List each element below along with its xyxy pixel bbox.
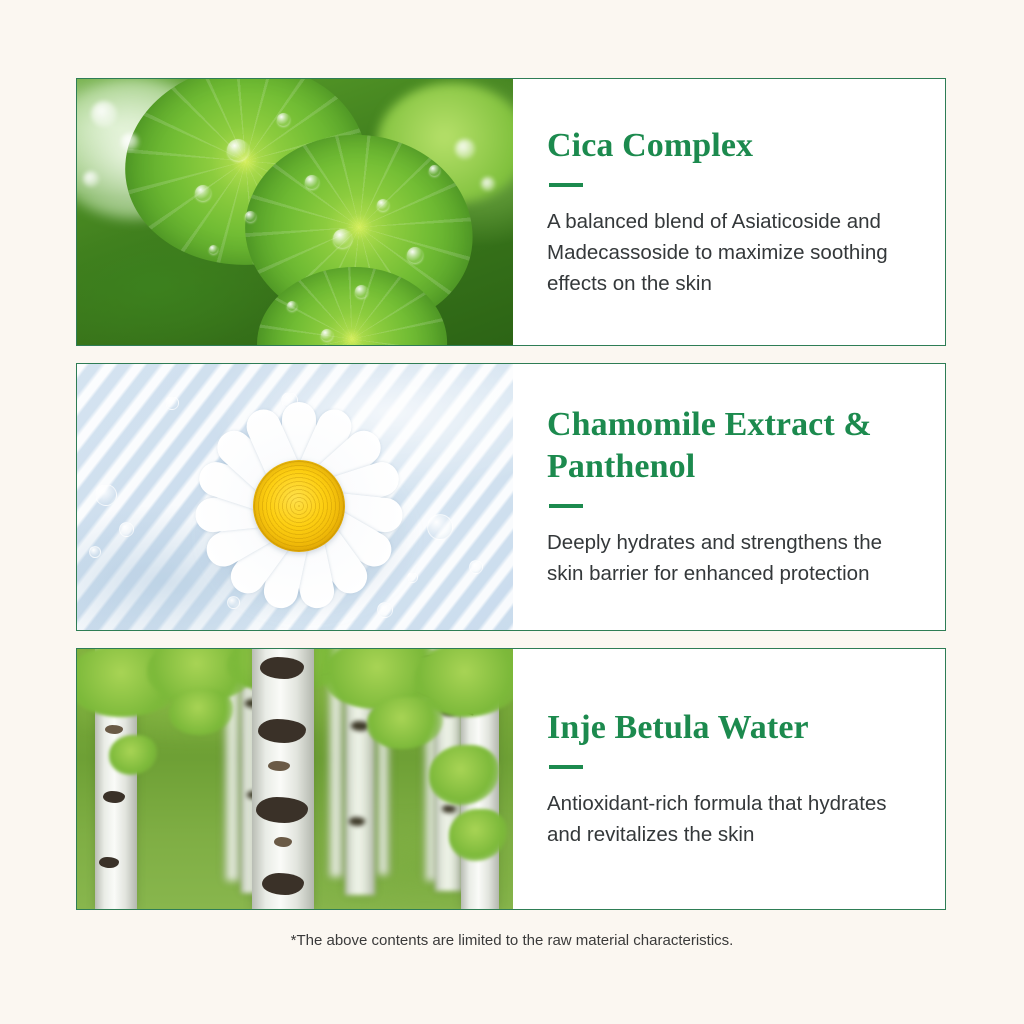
water-droplet: [407, 247, 423, 263]
bark-mark: [442, 805, 456, 813]
bark-mark: [99, 857, 119, 868]
title-accent-rule: [549, 765, 583, 769]
water-droplet: [277, 113, 290, 126]
card-text-panel: Cica Complex A balanced blend of Asiatic…: [513, 79, 945, 345]
disclaimer-footnote: *The above contents are limited to the r…: [0, 932, 1024, 949]
centella-leaves-with-dew-photo: [77, 79, 513, 345]
bark-mark: [105, 725, 123, 734]
title-accent-rule: [549, 183, 583, 187]
chamomile-flower-on-gel-photo: [77, 364, 513, 630]
ingredient-description: Antioxidant-rich formula that hydrates a…: [547, 789, 897, 851]
ingredient-title: Cica Complex: [547, 125, 911, 166]
water-droplet: [333, 229, 352, 248]
gel-bubble: [95, 484, 117, 506]
ingredient-card-chamomile-panthenol: Chamomile Extract & Panthenol Deeply hyd…: [76, 363, 946, 631]
bokeh-highlight: [455, 139, 475, 159]
bark-mark: [256, 797, 308, 823]
ingredient-title: Inje Betula Water: [547, 707, 911, 748]
ingredient-card-list: Cica Complex A balanced blend of Asiatic…: [76, 78, 946, 910]
ingredient-description: A balanced blend of Asiaticoside and Mad…: [547, 207, 897, 299]
flower-center-disc: [253, 460, 345, 552]
chamomile-flower: [185, 392, 413, 620]
ingredient-card-inje-betula-water: Inje Betula Water Antioxidant-rich formu…: [76, 648, 946, 910]
water-droplet: [287, 301, 297, 311]
water-droplet: [209, 245, 218, 254]
bark-mark: [274, 837, 292, 847]
water-droplet: [245, 211, 256, 222]
water-droplet: [195, 185, 211, 201]
water-droplet: [305, 175, 319, 189]
gel-bubble: [119, 522, 134, 537]
bark-mark: [258, 719, 306, 743]
ingredient-card-cica-complex: Cica Complex A balanced blend of Asiatic…: [76, 78, 946, 346]
bark-mark: [103, 791, 125, 803]
bokeh-highlight: [91, 101, 117, 127]
title-accent-rule: [549, 504, 583, 508]
water-droplet: [355, 285, 368, 298]
bokeh-highlight: [83, 171, 99, 187]
bark-mark: [268, 761, 290, 771]
water-droplet: [227, 139, 249, 161]
gel-bubble: [427, 514, 453, 540]
bark-mark: [262, 873, 304, 895]
card-text-panel: Chamomile Extract & Panthenol Deeply hyd…: [513, 364, 945, 630]
bark-mark: [349, 817, 365, 826]
bokeh-highlight: [121, 133, 139, 151]
card-text-panel: Inje Betula Water Antioxidant-rich formu…: [513, 649, 945, 909]
gel-bubble: [165, 396, 179, 410]
water-droplet: [377, 199, 389, 211]
bark-mark: [260, 657, 304, 679]
ingredient-title: Chamomile Extract & Panthenol: [547, 404, 911, 487]
water-droplet: [429, 165, 440, 176]
gel-bubble: [89, 546, 101, 558]
ingredient-description: Deeply hydrates and strengthens the skin…: [547, 528, 897, 590]
birch-trunk-foreground: [252, 649, 314, 909]
water-droplet: [321, 329, 333, 341]
birch-forest-photo: [77, 649, 513, 909]
ingredient-highlights-page: Cica Complex A balanced blend of Asiatic…: [0, 0, 1024, 1024]
gel-bubble: [469, 560, 483, 574]
bokeh-highlight: [481, 177, 495, 191]
